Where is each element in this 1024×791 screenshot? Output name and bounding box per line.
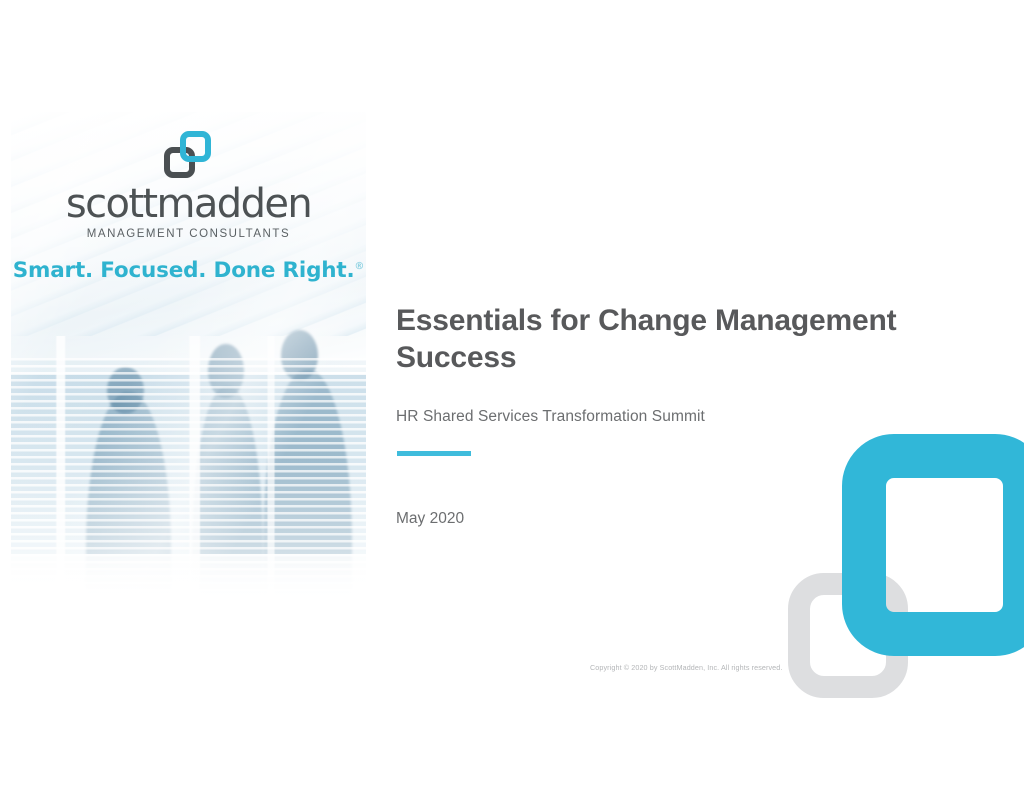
glyph-cyan-c-icon xyxy=(842,434,1024,656)
title-slide: scottmadden MANAGEMENT CONSULTANTS Smart… xyxy=(0,0,1024,791)
copyright-notice: Copyright © 2020 by ScottMadden, Inc. Al… xyxy=(590,663,782,672)
cover-photo-panel: scottmadden MANAGEMENT CONSULTANTS Smart… xyxy=(11,112,366,672)
title-block: Essentials for Change Management Success xyxy=(396,303,956,376)
page-title: Essentials for Change Management Success xyxy=(396,303,956,376)
registered-trademark-icon: ® xyxy=(354,261,364,272)
accent-rule xyxy=(397,451,471,456)
presentation-date: May 2020 xyxy=(396,510,464,528)
brand-descriptor: MANAGEMENT CONSULTANTS xyxy=(11,228,366,240)
logo-square-cyan-icon xyxy=(180,131,211,162)
page-subtitle: HR Shared Services Transformation Summit xyxy=(396,408,705,426)
glyph-gray-square-icon xyxy=(788,573,908,698)
scottmadden-c-glyph-icon xyxy=(780,420,1024,700)
brand-logo-lockup: scottmadden MANAGEMENT CONSULTANTS Smart… xyxy=(11,130,366,283)
brand-wordmark: scottmadden xyxy=(11,184,366,224)
photo-bottom-fade xyxy=(11,554,366,672)
scottmadden-overlapping-squares-logo-icon xyxy=(162,130,216,182)
brand-tagline-text: Smart. Focused. Done Right. xyxy=(13,258,355,283)
brand-tagline: Smart. Focused. Done Right.® xyxy=(11,258,366,283)
